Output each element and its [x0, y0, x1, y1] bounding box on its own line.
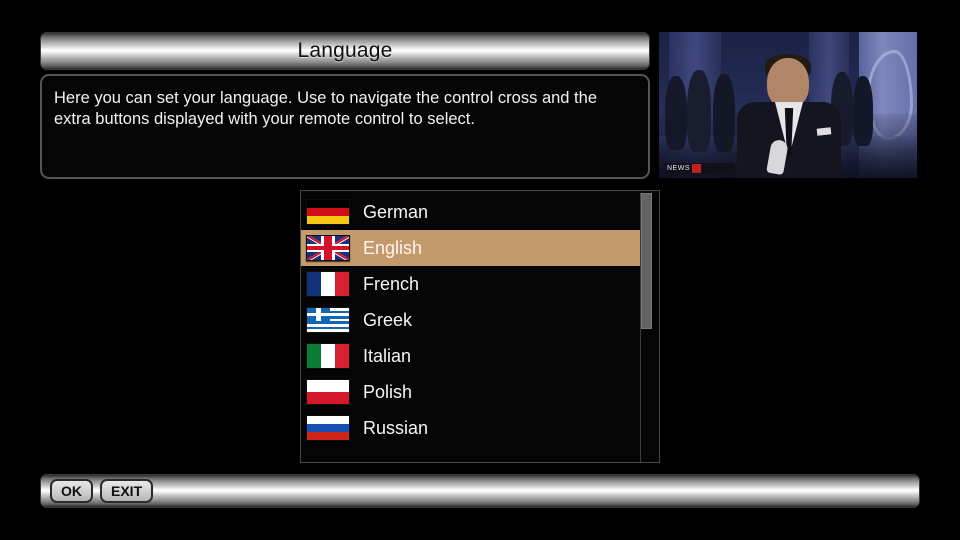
language-label: English [363, 238, 422, 259]
language-row-italian[interactable]: Italian [301, 338, 644, 374]
flag-fr-icon [306, 271, 350, 297]
scrollbar-track[interactable] [640, 193, 651, 462]
language-row-english[interactable]: English [301, 230, 644, 266]
language-label: Italian [363, 346, 411, 367]
exit-button[interactable]: EXIT [100, 479, 153, 503]
language-row-german[interactable]: German [301, 194, 644, 230]
title-bar: Language [40, 32, 650, 70]
tv-settings-screen: Language Here you can set your language.… [0, 0, 960, 540]
video-person [687, 70, 711, 152]
language-label: Polish [363, 382, 412, 403]
channel-logo-text: NEWS [667, 165, 690, 172]
channel-logo-mark [692, 164, 701, 173]
channel-logo: NEWS [665, 163, 735, 174]
description-text: Here you can set your language. Use to n… [54, 88, 634, 130]
page-title: Language [297, 39, 392, 63]
flag-pl-icon [306, 379, 350, 405]
language-label: Greek [363, 310, 412, 331]
flag-gr-icon [306, 307, 350, 333]
language-label: French [363, 274, 419, 295]
video-person [713, 74, 735, 152]
language-row-french[interactable]: French [301, 266, 644, 302]
video-preview[interactable]: NEWS [658, 31, 918, 179]
flag-de-icon [306, 199, 350, 225]
language-row-polish[interactable]: Polish [301, 374, 644, 410]
footer-bar: OK EXIT [40, 474, 920, 508]
description-panel: Here you can set your language. Use to n… [40, 74, 650, 179]
language-list[interactable]: GermanEnglishFrenchGreekItalianPolishRus… [301, 194, 644, 456]
flag-ru-icon [306, 415, 350, 441]
language-label: Russian [363, 418, 428, 439]
language-list-panel: GermanEnglishFrenchGreekItalianPolishRus… [300, 190, 660, 463]
reporter-pocket-square [817, 127, 832, 135]
reporter-head [767, 58, 809, 108]
video-person [665, 76, 687, 150]
language-row-russian[interactable]: Russian [301, 410, 644, 446]
flag-it-icon [306, 343, 350, 369]
video-person [853, 76, 873, 146]
language-label: German [363, 202, 428, 223]
flag-gb-icon [306, 235, 350, 261]
scrollbar-thumb[interactable] [641, 193, 652, 329]
ok-button[interactable]: OK [50, 479, 93, 503]
language-row-greek[interactable]: Greek [301, 302, 644, 338]
